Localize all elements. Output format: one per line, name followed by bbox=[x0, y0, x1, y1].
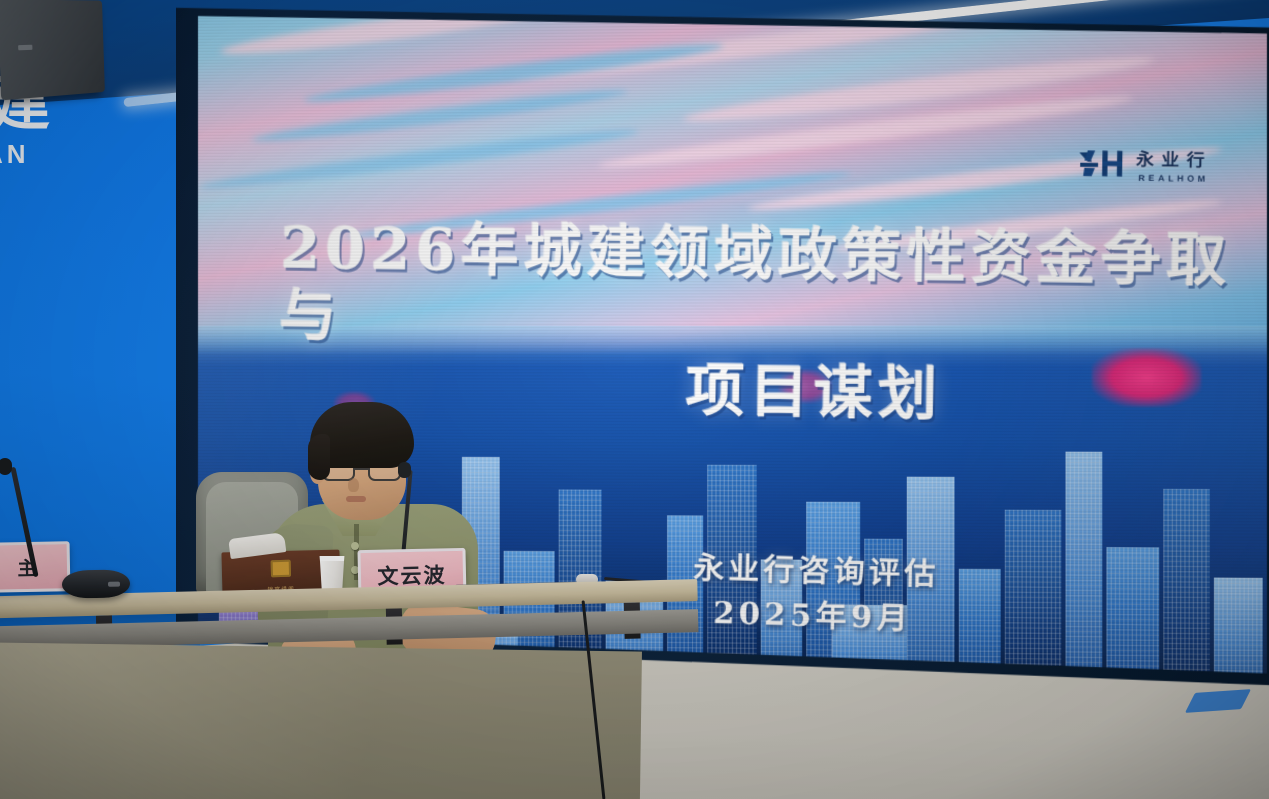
laptop bbox=[0, 0, 105, 100]
tissue-box-emblem-icon bbox=[271, 560, 291, 577]
laptop-logo-icon bbox=[18, 45, 32, 51]
microphone-head-icon bbox=[398, 462, 411, 478]
slide-footer: 永业行咨询评估 2025年9月 bbox=[692, 546, 1126, 647]
presenter-hair-side bbox=[308, 434, 330, 480]
desk-front-panel bbox=[0, 642, 642, 799]
slide-organization: 永业行咨询评估 bbox=[693, 550, 940, 592]
slide-logo: 永业行 REALHOM bbox=[1077, 144, 1212, 184]
conference-room-scene: 建 AN 筹 bbox=[0, 0, 1269, 799]
microphone-head-foreground-icon bbox=[0, 458, 12, 475]
presenter-mouth bbox=[346, 496, 366, 502]
slide-title-line-1: 2026年城建领域政策性资金争取与 bbox=[260, 215, 1247, 365]
presenter-nose bbox=[348, 478, 359, 492]
slide-logo-chinese: 永业行 bbox=[1136, 145, 1212, 172]
yh-monogram-icon bbox=[1077, 147, 1126, 178]
presenter-desk bbox=[0, 579, 703, 799]
slide-logo-english: REALHOM bbox=[1138, 172, 1209, 183]
wall-sign-left-latin: AN bbox=[0, 139, 50, 170]
microphone-base-foreground bbox=[62, 569, 130, 598]
